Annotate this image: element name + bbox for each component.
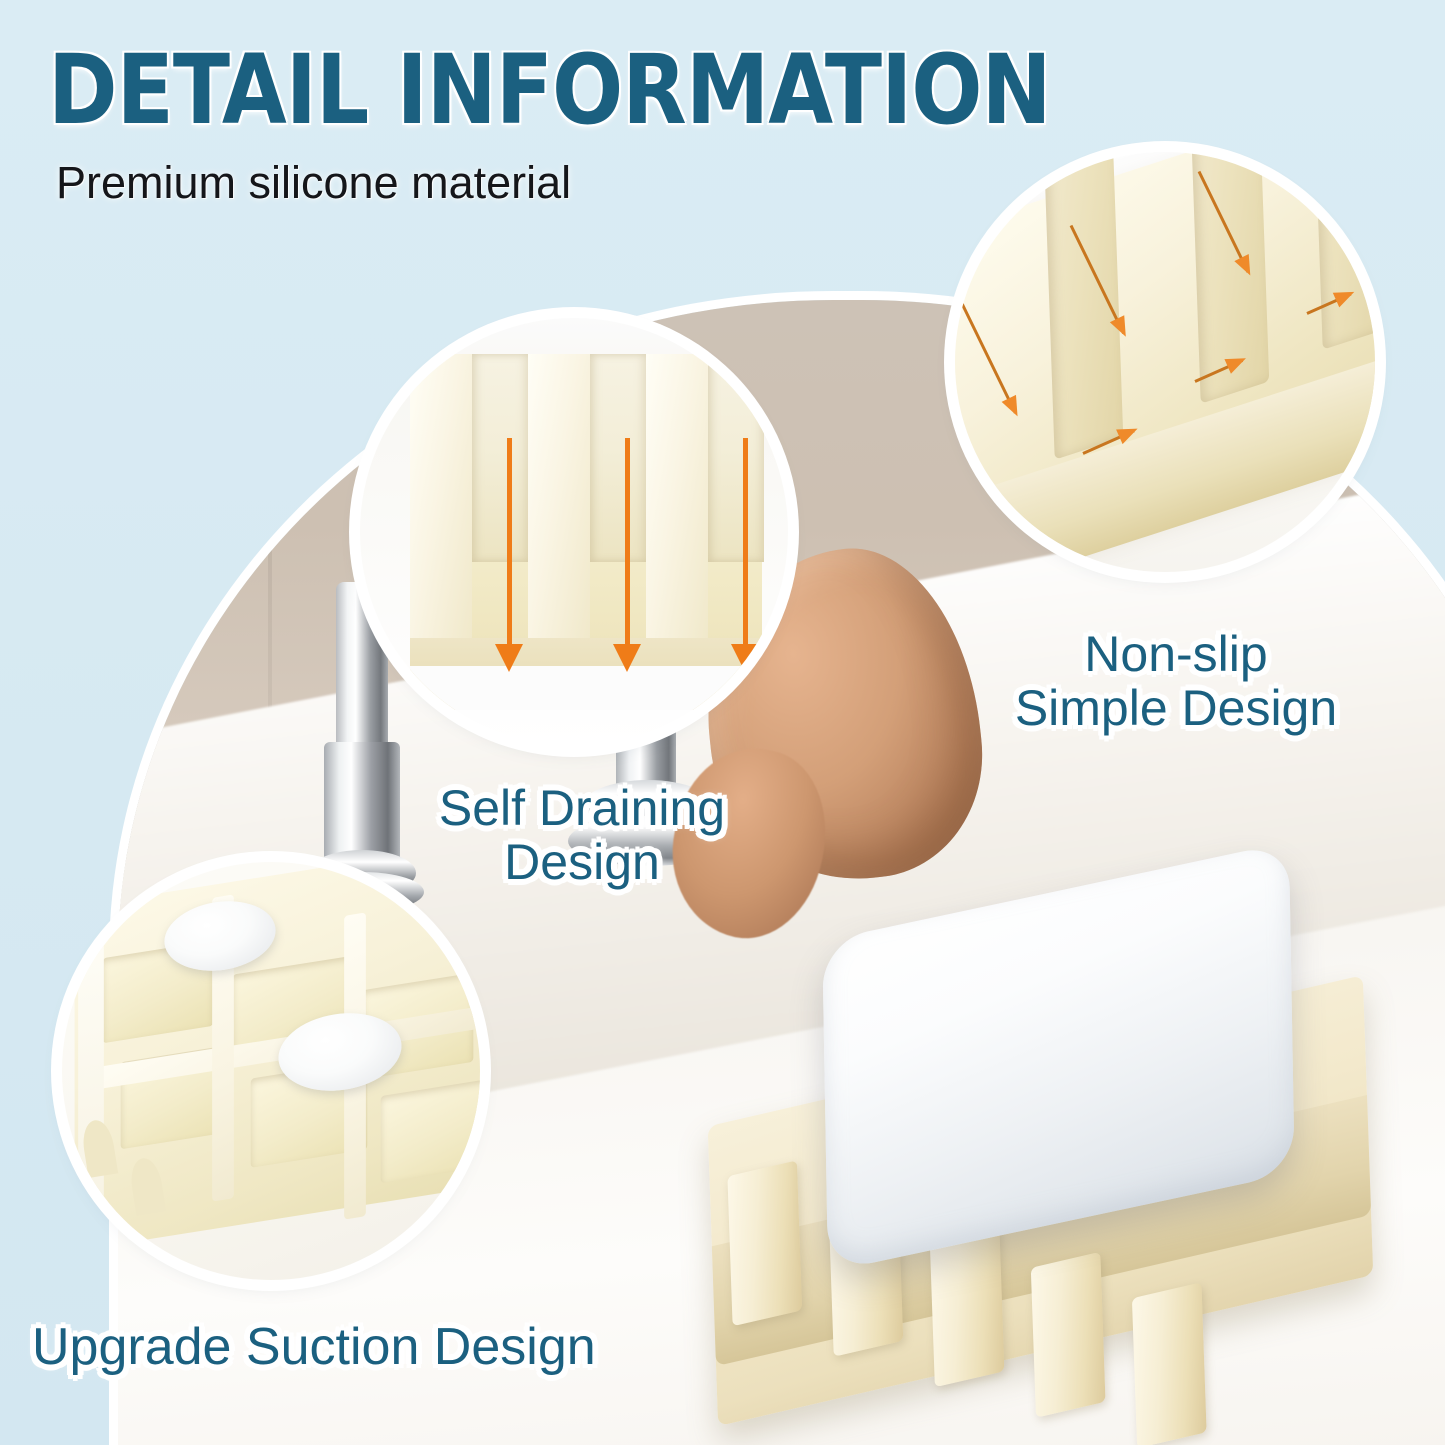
soap-dish-product: [698, 828, 1418, 1432]
callout-upgrade-suction: [62, 862, 480, 1280]
product-infographic: DETAIL INFORMATION Premium silicone mate…: [0, 0, 1445, 1445]
callout-self-draining: [360, 318, 788, 746]
feature-label-self-draining: Self Draining Design: [412, 782, 752, 889]
page-subtitle: Premium silicone material: [56, 160, 571, 205]
drain-arrow-icon: [507, 438, 512, 648]
page-title: DETAIL INFORMATION: [48, 42, 1051, 138]
drain-arrow-icon: [625, 438, 630, 648]
feature-label-upgrade-suction: Upgrade Suction Design: [32, 1320, 596, 1376]
silicone-ridges-closeup: [410, 354, 762, 710]
feature-label-non-slip: Non-slip Simple Design: [1000, 628, 1352, 735]
drain-arrow-icon: [743, 438, 748, 648]
callout-non-slip: [955, 152, 1375, 572]
